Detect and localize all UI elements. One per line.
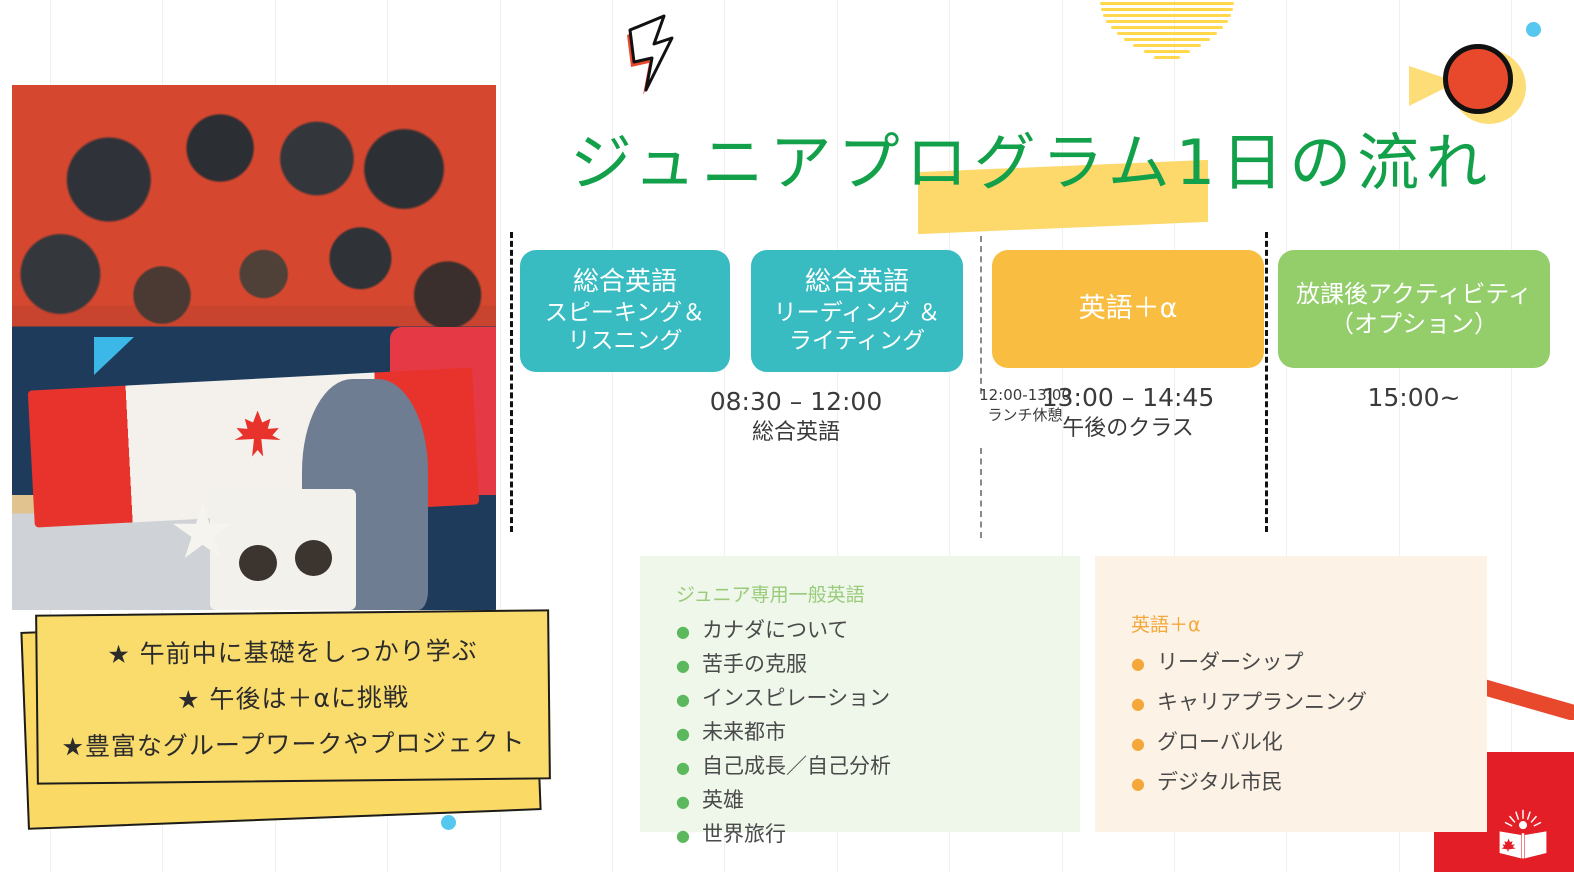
panel-english-plus-alpha: 英語＋α ●リーダーシップ ●キャリアプランニング ●グローバル化 ●デジタル市… — [1095, 556, 1487, 832]
timeline-divider — [510, 232, 513, 532]
chip-line-3: ライティング — [789, 327, 925, 356]
schedule-time-afternoon: 13:00 – 14:45 午後のクラス — [992, 382, 1264, 443]
chip-line-3: リスニング — [568, 327, 683, 356]
bullet-icon: ● — [1131, 776, 1145, 792]
daily-schedule: 総合英語 スピーキング＆ リスニング 総合英語 リーディング ＆ ライティング … — [515, 250, 1560, 450]
list-item-label: 未来都市 — [702, 715, 786, 749]
bullet-icon: ● — [1131, 696, 1145, 712]
bullet-icon: ● — [1131, 656, 1145, 672]
schedule-chip[interactable]: 総合英語 スピーキング＆ リスニング — [520, 250, 730, 372]
schedule-slot-english-plus-alpha[interactable]: 英語＋α 13:00 – 14:45 午後のクラス — [992, 250, 1264, 443]
panel-general-english: ジュニア専用一般英語 ●カナダについて ●苦手の克服 ●インスピレーション ●未… — [640, 556, 1080, 832]
list-item: ●カナダについて — [676, 613, 1080, 647]
schedule-time-morning: 08:30 – 12:00 総合英語 — [631, 386, 961, 447]
group-photo — [12, 85, 496, 610]
bullet-icon: ● — [676, 726, 690, 742]
cyan-triangle-icon — [94, 337, 134, 375]
blue-dot-icon — [1526, 22, 1541, 37]
time-range: 08:30 – 12:00 — [631, 386, 961, 419]
schedule-time-after-school: 15:00~ — [1278, 382, 1550, 415]
chip-line-2: リーディング ＆ — [774, 299, 941, 328]
chip-line-2: （オプション） — [1330, 309, 1498, 339]
list-item: ●グローバル化 — [1131, 723, 1487, 763]
list-item-label: グローバル化 — [1157, 723, 1283, 763]
chip-line-1: 放課後アクティビティ — [1296, 279, 1532, 309]
bullet-icon: ● — [676, 624, 690, 640]
list-item-label: リーダーシップ — [1157, 643, 1304, 683]
chip-line-1: 総合英語 — [573, 266, 677, 299]
list-item-label: 世界旅行 — [702, 817, 786, 851]
list-item: ●キャリアプランニング — [1131, 683, 1487, 723]
list-item: ●英雄 — [676, 783, 1080, 817]
panel-heading: 英語＋α — [1131, 610, 1487, 637]
list-item-label: 英雄 — [702, 783, 744, 817]
timeline-divider — [980, 448, 982, 538]
list-item: ●デジタル市民 — [1131, 763, 1487, 803]
chip-line-2: スピーキング＆ — [545, 299, 705, 328]
schedule-chip[interactable]: 総合英語 リーディング ＆ ライティング — [751, 250, 963, 372]
list-item-label: キャリアプランニング — [1157, 683, 1367, 723]
panel-heading: ジュニア専用一般英語 — [676, 580, 1080, 607]
list-item-label: 自己成長／自己分析 — [702, 749, 891, 783]
highlight-note: ★ 午前中に基礎をしっかり学ぶ ★ 午後は＋αに挑戦 ★豊富なグループワークやプ… — [35, 609, 551, 784]
list-item-label: インスピレーション — [702, 681, 890, 715]
bullet-icon: ● — [676, 828, 690, 844]
panel-list: ●リーダーシップ ●キャリアプランニング ●グローバル化 ●デジタル市民 — [1131, 643, 1487, 803]
schedule-chip[interactable]: 放課後アクティビティ （オプション） — [1278, 250, 1550, 368]
schedule-slot-morning-speaking-listening[interactable]: 総合英語 スピーキング＆ リスニング — [520, 250, 730, 372]
list-item: ●未来都市 — [676, 715, 1080, 749]
list-item: ●インスピレーション — [676, 681, 1080, 715]
time-range: 13:00 – 14:45 — [992, 382, 1264, 415]
bullet-icon: ● — [676, 692, 690, 708]
chip-line-1: 総合英語 — [805, 266, 909, 299]
list-item: ●世界旅行 — [676, 817, 1080, 851]
time-sublabel: 午後のクラス — [992, 415, 1264, 444]
list-item-label: 苦手の克服 — [702, 647, 807, 681]
red-slash-icon — [1484, 676, 1574, 720]
school-book-maple-leaf-logo — [1496, 808, 1550, 862]
bullet-icon: ● — [676, 760, 690, 776]
bullet-icon: ● — [676, 658, 690, 674]
bullet-icon: ● — [676, 794, 690, 810]
lightning-bolt-icon — [612, 4, 712, 104]
list-item: ●自己成長／自己分析 — [676, 749, 1080, 783]
striped-semicircle-icon — [1094, 0, 1240, 60]
red-circle-icon — [1443, 44, 1513, 114]
photo-whiteboard — [210, 489, 355, 610]
schedule-slot-morning-reading-writing[interactable]: 総合英語 リーディング ＆ ライティング 08:30 – 12:00 総合英語 — [751, 250, 963, 372]
bullet-icon: ● — [1131, 736, 1145, 752]
list-item: ●リーダーシップ — [1131, 643, 1487, 683]
note-line-3: ★豊富なグループワークやプロジェクト — [61, 723, 525, 764]
note-line-1: ★ 午前中に基礎をしっかり学ぶ — [107, 631, 478, 671]
time-range: 15:00~ — [1278, 382, 1550, 415]
schedule-slot-after-school-activity[interactable]: 放課後アクティビティ （オプション） 15:00~ — [1278, 250, 1550, 415]
list-item-label: デジタル市民 — [1157, 763, 1283, 803]
panel-list: ●カナダについて ●苦手の克服 ●インスピレーション ●未来都市 ●自己成長／自… — [676, 613, 1080, 851]
page-title-area: ジュニアプログラム1日の流れ — [570, 112, 1510, 212]
note-line-2: ★ 午後は＋αに挑戦 — [177, 678, 409, 716]
schedule-chip[interactable]: 英語＋α — [992, 250, 1264, 368]
page-title: ジュニアプログラム1日の流れ — [570, 112, 1510, 202]
time-sublabel: 総合英語 — [631, 419, 961, 448]
blue-dot-icon — [441, 815, 456, 830]
list-item-label: カナダについて — [702, 613, 848, 647]
list-item: ●苦手の克服 — [676, 647, 1080, 681]
chip-line-1: 英語＋α — [1079, 292, 1178, 326]
